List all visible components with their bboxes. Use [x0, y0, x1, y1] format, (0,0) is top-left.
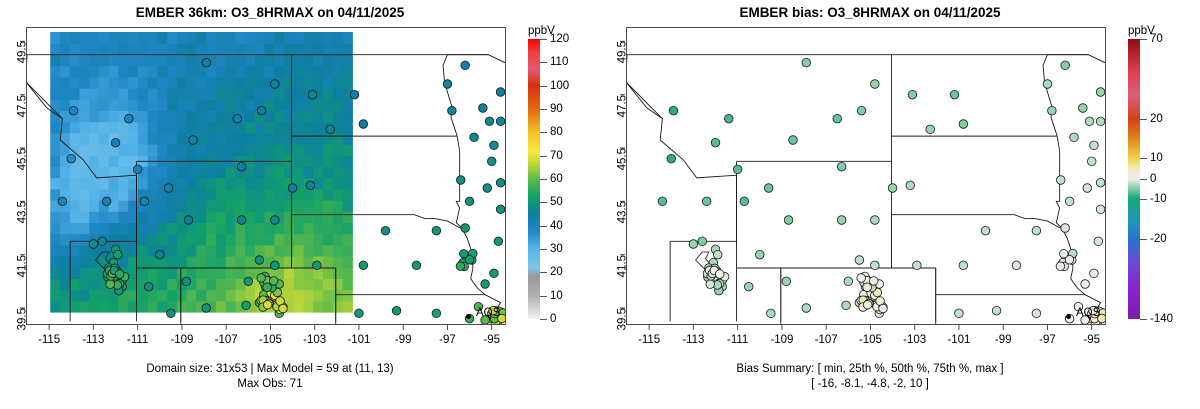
aqs-site-marker — [789, 136, 798, 145]
state-boundary — [27, 55, 137, 242]
right-caption-line1: Bias Summary: [ min, 25th %, 50th %, 75t… — [600, 362, 1140, 377]
aqs-site-marker — [784, 216, 793, 225]
aqs-site-marker — [233, 114, 242, 123]
aqs-site-marker — [833, 114, 842, 123]
colorbar-tick-label: -20 — [1150, 233, 1167, 245]
aqs-site-marker — [713, 250, 722, 259]
aqs-site-marker — [908, 90, 917, 99]
aqs-site-marker — [842, 301, 851, 310]
x-tick-label: -103 — [903, 334, 926, 346]
state-boundary — [27, 82, 62, 119]
aqs-site-marker — [992, 306, 1001, 315]
aqs-site-marker — [1060, 249, 1069, 258]
aqs-site-marker — [1032, 309, 1041, 318]
aqs-site-marker — [479, 104, 488, 113]
colorbar-tick-label: 0 — [550, 313, 556, 325]
y-tick-label: 49.5 — [16, 41, 28, 63]
aqs-site-marker — [125, 114, 134, 123]
aqs-site-marker — [263, 300, 272, 309]
left-colorbar-ticks: 0102030405060708090100110120 — [540, 39, 590, 319]
bias-panel: EMBER bias: O3_8HRMAX on 04/11/2025 -115… — [600, 0, 1200, 409]
aqs-legend-label: AQS — [476, 307, 500, 319]
aqs-site-marker — [164, 184, 173, 193]
aqs-site-marker — [432, 226, 441, 235]
colorbar-tick-label: 30 — [550, 243, 563, 255]
x-tick-label: -99 — [995, 334, 1012, 346]
colorbar-tick-label: 80 — [550, 126, 563, 138]
x-tick-label: -113 — [682, 334, 704, 346]
left-y-axis-labels: 39.541.543.545.547.549.5 — [0, 27, 26, 325]
left-caption-line2: Max Obs: 71 — [0, 377, 540, 392]
aqs-site-marker — [448, 106, 457, 115]
aqs-site-marker — [744, 282, 753, 291]
x-tick-label: -95 — [1083, 334, 1100, 346]
aqs-site-marker — [1012, 261, 1021, 270]
colorbar-tick-mark — [540, 226, 547, 227]
aqs-site-marker — [1032, 226, 1041, 235]
colorbar-tick-mark — [540, 202, 547, 203]
aqs-site-marker — [706, 280, 715, 289]
aqs-site-marker — [1085, 117, 1094, 126]
x-tick-label: -111 — [727, 334, 748, 346]
aqs-site-marker — [950, 90, 959, 99]
colorbar-tick-label: -140 — [1150, 313, 1173, 325]
left-caption: Domain size: 31x53 | Max Model = 59 at (… — [0, 362, 540, 392]
x-tick-label: -115 — [638, 334, 660, 346]
aqs-site-marker — [392, 306, 401, 315]
model-map-plot — [26, 27, 506, 325]
aqs-site-marker — [89, 240, 98, 249]
aqs-site-marker — [863, 283, 872, 292]
aqs-site-marker — [202, 304, 211, 313]
aqs-site-marker — [871, 261, 880, 270]
aqs-site-marker — [167, 309, 176, 318]
aqs-site-marker — [244, 277, 253, 286]
y-tick-label: 39.5 — [16, 308, 28, 330]
aqs-site-marker — [288, 184, 297, 193]
aqs-site-marker — [140, 197, 149, 206]
colorbar-tick-mark — [540, 272, 547, 273]
y-tick-label: 45.5 — [16, 148, 28, 170]
aqs-site-marker — [802, 58, 811, 67]
aqs-site-marker — [456, 262, 465, 271]
aqs-site-marker — [306, 181, 315, 190]
colorbar-tick-label: 10 — [550, 290, 563, 302]
aqs-site-marker — [888, 184, 897, 193]
state-boundary — [627, 55, 737, 242]
y-tick-label: 41.5 — [616, 255, 628, 277]
colorbar-tick-mark — [540, 109, 547, 110]
aqs-site-marker — [689, 240, 698, 249]
colorbar-tick-mark — [1140, 179, 1147, 180]
aqs-site-marker — [1043, 80, 1052, 89]
aqs-site-marker — [913, 261, 922, 270]
state-boundary — [456, 136, 459, 208]
aqs-site-marker — [837, 216, 846, 225]
aqs-site-marker — [715, 270, 724, 279]
aqs-site-marker — [237, 216, 246, 225]
aqs-site-marker — [782, 277, 791, 286]
aqs-site-marker — [863, 300, 872, 309]
aqs-site-marker — [460, 249, 469, 258]
aqs-site-marker — [764, 184, 773, 193]
colorbar-tick-label: 10 — [1150, 152, 1163, 164]
aqs-site-marker — [658, 197, 667, 206]
aqs-site-marker — [669, 106, 678, 115]
x-tick-label: -105 — [859, 334, 882, 346]
colorbar-tick-mark — [1140, 239, 1147, 240]
colorbar-tick-label: 50 — [550, 196, 563, 208]
state-boundary — [627, 55, 1105, 63]
x-tick-label: -107 — [215, 334, 238, 346]
colorbar-tick-mark — [540, 319, 547, 320]
aqs-site-marker — [1070, 133, 1079, 142]
aqs-site-marker — [1096, 205, 1105, 214]
aqs-site-marker — [1056, 262, 1065, 271]
right-caption: Bias Summary: [ min, 25th %, 50th %, 75t… — [600, 362, 1140, 392]
x-tick-label: -103 — [303, 334, 326, 346]
state-boundary — [443, 55, 457, 136]
aqs-site-marker — [308, 90, 317, 99]
colorbar-tick-mark — [540, 132, 547, 133]
colorbar-tick-label: 120 — [550, 33, 569, 45]
x-tick-label: -97 — [1039, 334, 1056, 346]
aqs-site-marker — [1094, 237, 1103, 246]
aqs-site-marker — [485, 117, 494, 126]
x-tick-label: -101 — [947, 334, 970, 346]
aqs-site-marker — [189, 136, 198, 145]
y-tick-label: 43.5 — [16, 201, 28, 223]
aqs-site-marker — [959, 120, 968, 129]
aqs-site-marker — [490, 269, 499, 278]
aqs-site-marker — [1096, 117, 1105, 126]
aqs-site-marker — [350, 90, 359, 99]
state-boundary — [1056, 136, 1059, 208]
aqs-site-marker — [106, 280, 115, 289]
aqs-site-marker — [313, 261, 322, 270]
aqs-site-marker — [490, 141, 499, 150]
aqs-site-marker — [257, 106, 266, 115]
aqs-site-marker — [871, 80, 880, 89]
x-tick-label: -99 — [395, 334, 412, 346]
aqs-site-marker — [733, 165, 742, 174]
aqs-site-marker — [359, 120, 368, 129]
x-tick-label: -111 — [127, 334, 148, 346]
aqs-site-marker — [955, 309, 964, 318]
y-tick-label: 39.5 — [616, 308, 628, 330]
right-colorbar — [1128, 39, 1140, 319]
state-boundary — [27, 55, 505, 63]
aqs-site-marker — [483, 184, 492, 193]
right-panel-title: EMBER bias: O3_8HRMAX on 04/11/2025 — [600, 5, 1140, 20]
left-panel-title: EMBER 36km: O3_8HRMAX on 04/11/2025 — [0, 5, 540, 20]
y-tick-label: 47.5 — [616, 95, 628, 117]
aqs-site-marker — [1096, 88, 1105, 97]
aqs-site-marker — [443, 80, 452, 89]
aqs-legend-dot — [466, 314, 471, 319]
colorbar-tick-mark — [540, 249, 547, 250]
aqs-site-marker — [182, 277, 191, 286]
aqs-site-marker — [69, 106, 78, 115]
colorbar-tick-mark — [540, 179, 547, 180]
aqs-site-marker — [144, 282, 153, 291]
aqs-site-marker — [461, 224, 470, 233]
aqs-site-marker — [698, 237, 707, 246]
x-tick-label: -97 — [439, 334, 456, 346]
aqs-site-marker — [133, 165, 142, 174]
x-tick-label: -107 — [815, 334, 838, 346]
aqs-site-marker — [1061, 224, 1070, 233]
aqs-site-marker — [906, 181, 915, 190]
aqs-site-marker — [271, 261, 280, 270]
y-tick-label: 49.5 — [616, 41, 628, 63]
aqs-site-marker — [326, 125, 335, 134]
aqs-site-marker — [381, 226, 390, 235]
aqs-site-marker — [926, 125, 935, 134]
aqs-site-marker — [67, 154, 76, 163]
aqs-site-marker — [359, 261, 368, 270]
aqs-site-marker — [102, 197, 111, 206]
aqs-site-marker — [667, 154, 676, 163]
colorbar-tick-mark — [1140, 319, 1147, 320]
aqs-site-marker — [755, 250, 764, 259]
aqs-site-marker — [237, 162, 246, 171]
aqs-site-marker — [202, 58, 211, 67]
right-y-axis-labels: 39.541.543.545.547.549.5 — [600, 27, 626, 325]
colorbar-tick-label: 70 — [550, 150, 563, 162]
aqs-site-marker — [802, 304, 811, 313]
aqs-site-marker — [58, 197, 67, 206]
aqs-site-marker — [98, 237, 107, 246]
aqs-site-marker — [844, 277, 853, 286]
colorbar-tick-label: 100 — [550, 80, 569, 92]
aqs-legend-label-bias: AQS — [1076, 307, 1100, 319]
aqs-site-marker — [481, 280, 490, 289]
bias-map-overlay — [627, 28, 1105, 324]
aqs-site-marker — [155, 250, 164, 259]
aqs-site-marker — [1079, 104, 1088, 113]
aqs-site-marker — [1081, 280, 1090, 289]
aqs-site-marker — [279, 304, 288, 313]
aqs-site-marker — [711, 138, 720, 147]
y-tick-label: 43.5 — [616, 201, 628, 223]
aqs-site-marker — [702, 197, 711, 206]
aqs-site-marker — [1048, 106, 1057, 115]
aqs-site-marker — [1087, 157, 1096, 166]
left-x-axis-labels: -115-113-111-109-107-105-103-101-99-97-9… — [26, 334, 506, 352]
aqs-site-marker — [1083, 184, 1092, 193]
aqs-site-marker — [456, 176, 465, 185]
y-tick-label: 41.5 — [16, 255, 28, 277]
aqs-site-marker — [855, 256, 864, 265]
right-x-axis-labels: -115-113-111-109-107-105-103-101-99-97-9… — [626, 334, 1106, 352]
colorbar-tick-label: 70 — [1150, 33, 1163, 45]
aqs-site-marker — [496, 205, 505, 214]
aqs-site-marker — [271, 80, 280, 89]
aqs-site-marker — [740, 197, 749, 206]
y-tick-label: 47.5 — [16, 95, 28, 117]
aqs-site-marker — [263, 283, 272, 292]
model-panel: EMBER 36km: O3_8HRMAX on 04/11/2025 -115… — [0, 0, 600, 409]
left-caption-line1: Domain size: 31x53 | Max Model = 59 at (… — [0, 362, 540, 377]
colorbar-tick-label: 110 — [550, 56, 568, 68]
aqs-site-marker — [959, 261, 968, 270]
aqs-site-marker — [1065, 197, 1074, 206]
colorbar-tick-label: 20 — [550, 266, 563, 278]
aqs-site-marker — [1096, 178, 1105, 187]
x-tick-label: -109 — [770, 334, 793, 346]
aqs-site-marker — [461, 61, 470, 70]
colorbar-tick-label: 40 — [550, 220, 563, 232]
colorbar-tick-label: 60 — [550, 173, 563, 185]
aqs-site-marker — [465, 197, 474, 206]
colorbar-tick-mark — [1140, 119, 1147, 120]
aqs-site-marker — [767, 309, 776, 318]
x-tick-label: -105 — [259, 334, 282, 346]
aqs-site-marker — [255, 256, 264, 265]
aqs-site-marker — [869, 277, 878, 286]
colorbar-tick-label: 90 — [550, 103, 563, 115]
aqs-site-marker — [269, 277, 278, 286]
state-boundary — [627, 82, 662, 119]
aqs-site-marker — [271, 216, 280, 225]
aqs-site-marker — [496, 117, 505, 126]
aqs-site-marker — [113, 250, 122, 259]
model-raster — [27, 28, 505, 324]
colorbar-tick-mark — [1140, 199, 1147, 200]
bias-raster — [627, 28, 1105, 324]
x-tick-label: -95 — [483, 334, 500, 346]
colorbar-tick-mark — [1140, 158, 1147, 159]
aqs-site-marker — [879, 304, 888, 313]
aqs-site-marker — [981, 226, 990, 235]
aqs-site-marker — [432, 309, 441, 318]
colorbar-tick-mark — [540, 86, 547, 87]
bias-map-plot — [626, 27, 1106, 325]
aqs-site-marker — [242, 301, 251, 310]
aqs-site-marker — [1090, 269, 1099, 278]
right-caption-line2: [ -16, -8.1, -4.8, -2, 10 ] — [600, 377, 1140, 392]
model-map-overlay — [27, 28, 505, 324]
aqs-site-marker — [257, 274, 266, 283]
aqs-site-marker — [1090, 141, 1099, 150]
aqs-site-marker — [487, 157, 496, 166]
colorbar-tick-mark — [540, 156, 547, 157]
aqs-site-marker — [184, 216, 193, 225]
aqs-site-marker — [871, 216, 880, 225]
aqs-site-marker — [115, 270, 124, 279]
aqs-site-marker — [857, 106, 866, 115]
aqs-site-marker — [494, 237, 503, 246]
colorbar-tick-mark — [1140, 39, 1147, 40]
aqs-site-marker — [1056, 176, 1065, 185]
left-colorbar — [528, 39, 540, 319]
aqs-site-marker — [355, 309, 364, 318]
x-tick-label: -115 — [38, 334, 60, 346]
aqs-site-marker — [496, 88, 505, 97]
aqs-site-marker — [412, 261, 421, 270]
aqs-site-marker — [857, 274, 866, 283]
y-tick-label: 45.5 — [616, 148, 628, 170]
colorbar-tick-label: -10 — [1150, 193, 1167, 205]
x-tick-label: -101 — [347, 334, 370, 346]
aqs-site-marker — [111, 138, 120, 147]
right-colorbar-ticks: -140-20-100102070 — [1140, 39, 1190, 319]
aqs-site-marker — [725, 114, 734, 123]
aqs-site-marker — [496, 178, 505, 187]
colorbar-tick-label: 0 — [1150, 173, 1156, 185]
colorbar-tick-mark — [540, 296, 547, 297]
colorbar-tick-mark — [540, 39, 547, 40]
x-tick-label: -113 — [82, 334, 104, 346]
aqs-site-marker — [1061, 61, 1070, 70]
aqs-site-marker — [470, 133, 479, 142]
colorbar-tick-label: 20 — [1150, 113, 1163, 125]
colorbar-tick-mark — [540, 62, 547, 63]
aqs-site-marker — [837, 162, 846, 171]
x-tick-label: -109 — [170, 334, 193, 346]
state-boundary — [1043, 55, 1057, 136]
aqs-legend-dot-bias — [1066, 314, 1071, 319]
